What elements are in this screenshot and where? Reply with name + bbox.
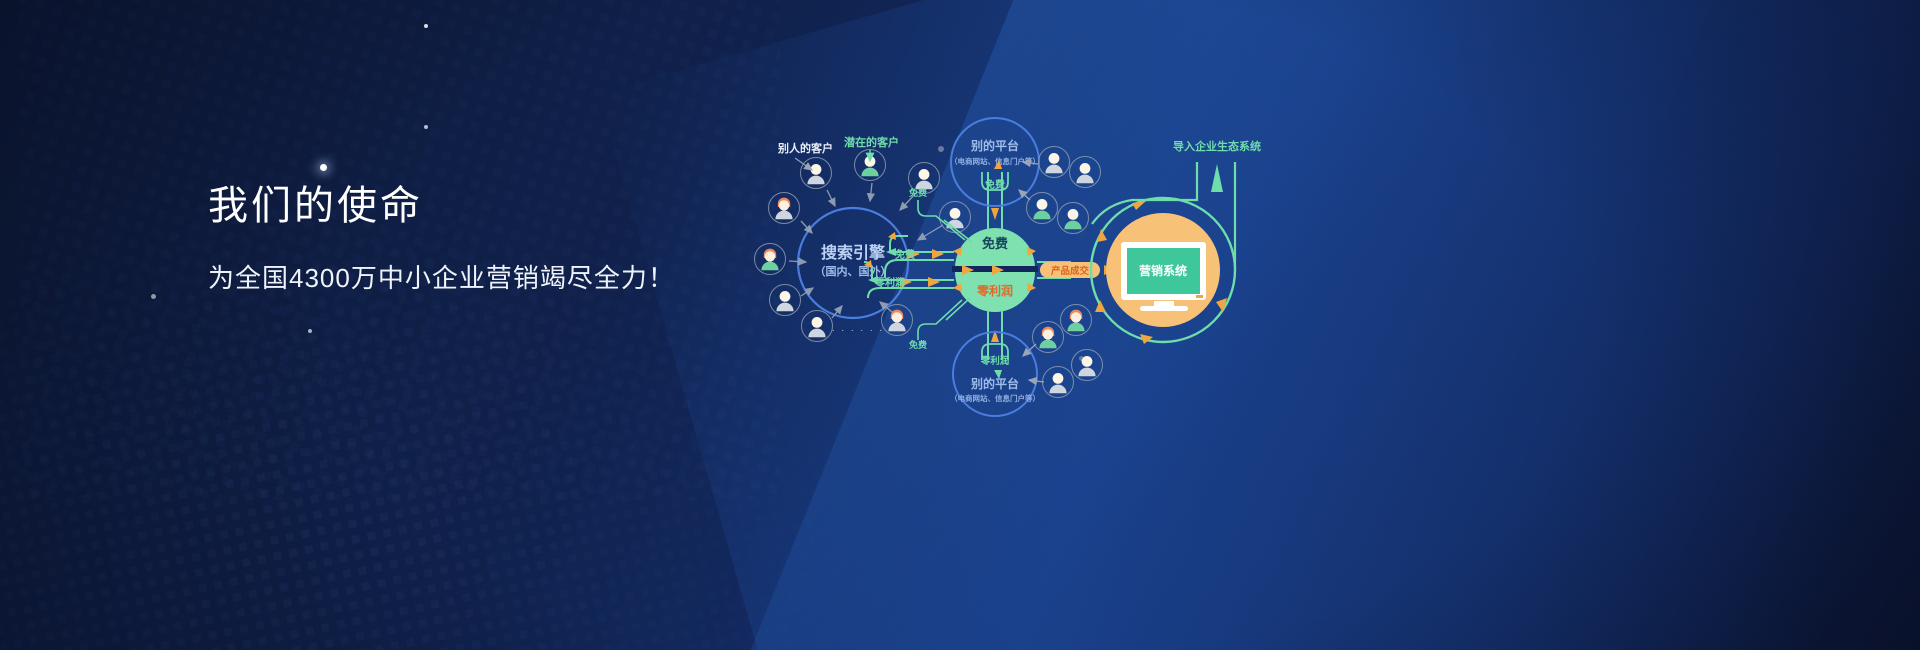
marketing-system-label: 营销系统 <box>1139 263 1187 278</box>
hub-top-label: 免费 <box>982 236 1008 251</box>
badge-free-lower: 免费 <box>909 339 927 350</box>
particle-dot <box>151 294 156 299</box>
platform-bottom-avatar-arrows <box>1023 344 1044 382</box>
stem-down-arrow <box>991 208 999 220</box>
platform-bottom-subtitle: （电商网站、信息门户等） <box>950 393 1040 403</box>
label-import-ecosystem: 导入企业生态系统 <box>1173 139 1261 153</box>
particle-dot <box>424 24 428 28</box>
customer-avatar <box>755 244 786 275</box>
customer-avatar <box>770 285 801 316</box>
customer-avatar <box>1061 305 1092 336</box>
ellipsis-indicator: · · · · · · <box>832 325 885 335</box>
customer-avatar <box>882 305 913 336</box>
label-others-customers: 别人的客户 <box>777 141 833 155</box>
hub-bottom-label: 零利润 <box>976 283 1013 298</box>
badge-zero-profit-left: 零利润 <box>874 276 905 289</box>
search-engine-title: 搜索引擎 <box>821 243 886 262</box>
platform-top-subtitle: （电商网站、信息门户等） <box>950 156 1040 166</box>
customer-avatar <box>1033 322 1064 353</box>
platform-top-title: 别的平台 <box>970 138 1019 153</box>
particle-dot <box>308 329 312 333</box>
customer-avatar <box>1043 367 1074 398</box>
particle-dot <box>320 164 327 171</box>
customer-avatar <box>769 193 800 224</box>
platform-bottom-title: 别的平台 <box>970 376 1019 391</box>
customer-avatar <box>1039 147 1070 178</box>
hero-copy: 我们的使命 为全国4300万中小企业营销竭尽全力！ <box>208 180 828 296</box>
platform-bottom-badge: 零利润 <box>980 355 1010 367</box>
customer-avatar <box>1027 193 1058 224</box>
search-engine-circle <box>798 208 908 318</box>
ecosystem-up-arrow <box>1211 164 1223 192</box>
customer-avatar <box>801 158 832 189</box>
search-engine-subtitle: （国内、国外） <box>815 264 892 278</box>
platform-top-badge: 免费 <box>985 178 1005 191</box>
customer-avatar <box>802 311 833 342</box>
badge-free-upper: 免费 <box>909 187 927 198</box>
page-title: 我们的使命 <box>208 180 828 232</box>
others-customers-pointer <box>795 158 812 170</box>
page-subtitle: 为全国4300万中小企业营销竭尽全力！ <box>208 260 828 296</box>
marketing-ecosystem-diagram: 搜索引擎 （国内、国外） · · · · · · 别人的客户 潜在的客户 <box>740 120 1300 420</box>
badge-free-left: 免费 <box>895 248 915 261</box>
customer-avatar <box>1072 350 1103 381</box>
label-potential-customers: 潜在的客户 <box>844 135 899 149</box>
deal-badge-label: 产品成交 <box>1051 265 1090 277</box>
particle-dot <box>424 125 428 129</box>
customer-avatar <box>1070 157 1101 188</box>
customer-avatar <box>1058 203 1089 234</box>
